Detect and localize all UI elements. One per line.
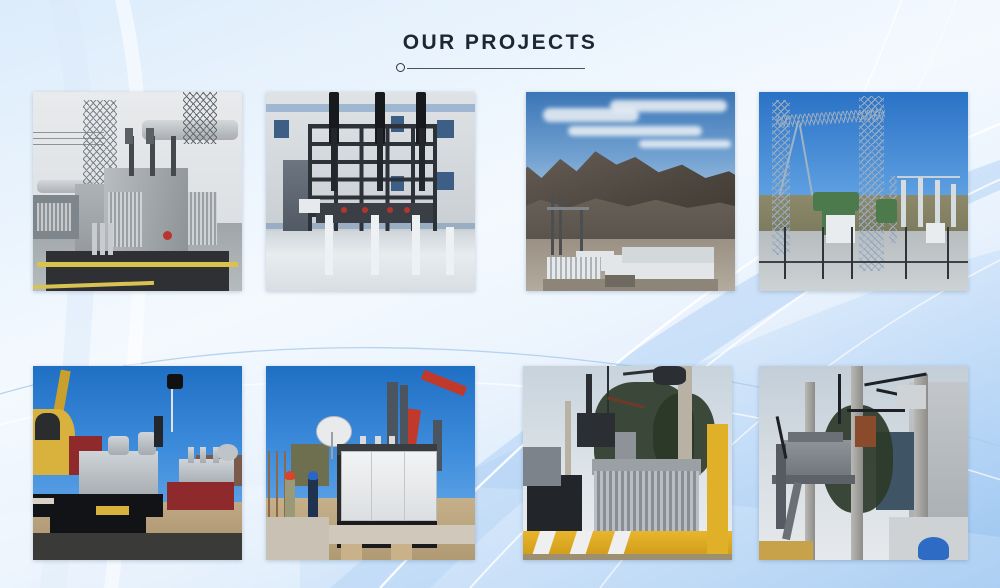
- project-photo-5[interactable]: [33, 366, 242, 560]
- project-photo-7[interactable]: [523, 366, 732, 560]
- project-photo-1[interactable]: [33, 92, 242, 291]
- project-photo-2[interactable]: [266, 92, 475, 291]
- project-photo-3[interactable]: [526, 92, 735, 291]
- projects-gallery: [0, 0, 1000, 588]
- projects-banner: OUR PROJECTS: [0, 0, 1000, 588]
- project-photo-4[interactable]: [759, 92, 968, 291]
- project-photo-6[interactable]: [266, 366, 475, 560]
- project-photo-8[interactable]: [759, 366, 968, 560]
